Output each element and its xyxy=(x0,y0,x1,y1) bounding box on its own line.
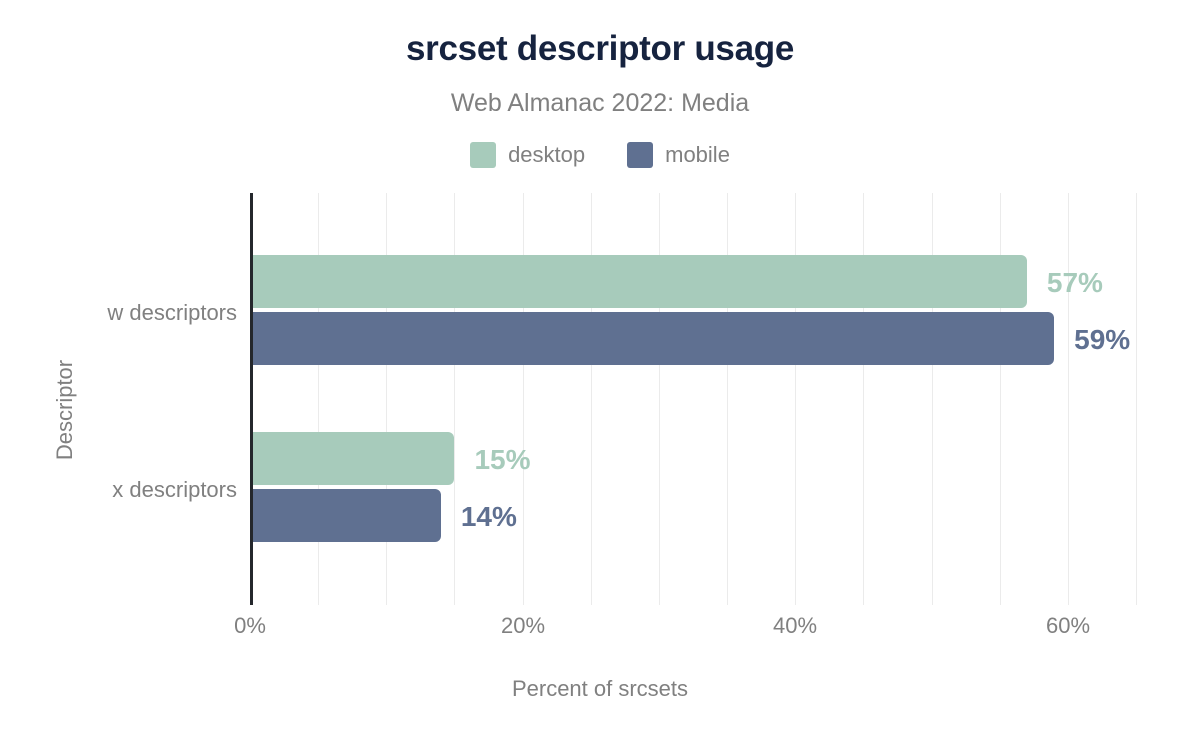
ytick-label-x-descriptors: x descriptors xyxy=(12,479,237,501)
ytick-label-w-descriptors: w descriptors xyxy=(12,302,237,324)
gridline xyxy=(1136,193,1137,605)
y-axis-line xyxy=(250,193,253,605)
gridline xyxy=(1068,193,1069,605)
chart-title: srcset descriptor usage xyxy=(0,30,1200,69)
xtick-label-20: 20% xyxy=(501,615,545,637)
xtick-label-0: 0% xyxy=(234,615,266,637)
xtick-label-40: 40% xyxy=(773,615,817,637)
bar-x-descriptors-desktop[interactable] xyxy=(250,432,454,485)
bar-value-x-descriptors-mobile: 14% xyxy=(461,503,517,531)
y-axis-title: Descriptor xyxy=(54,310,76,510)
legend-item-desktop[interactable]: desktop xyxy=(470,142,585,168)
legend-swatch-desktop xyxy=(470,142,496,168)
plot-area: 57% 59% 15% 14% xyxy=(250,193,1150,605)
x-axis-title: Percent of srcsets xyxy=(0,678,1200,700)
bar-value-x-descriptors-desktop: 15% xyxy=(474,446,530,474)
chart-legend: desktop mobile xyxy=(0,142,1200,168)
legend-item-mobile[interactable]: mobile xyxy=(627,142,730,168)
legend-label-desktop: desktop xyxy=(508,144,585,166)
legend-swatch-mobile xyxy=(627,142,653,168)
chart-container: srcset descriptor usage Web Almanac 2022… xyxy=(0,0,1200,742)
bar-x-descriptors-mobile[interactable] xyxy=(250,489,441,542)
bar-value-w-descriptors-desktop: 57% xyxy=(1047,269,1103,297)
bar-w-descriptors-mobile[interactable] xyxy=(250,312,1054,365)
chart-subtitle: Web Almanac 2022: Media xyxy=(0,90,1200,118)
legend-label-mobile: mobile xyxy=(665,144,730,166)
xtick-label-60: 60% xyxy=(1046,615,1090,637)
bar-w-descriptors-desktop[interactable] xyxy=(250,255,1027,308)
bar-value-w-descriptors-mobile: 59% xyxy=(1074,326,1130,354)
